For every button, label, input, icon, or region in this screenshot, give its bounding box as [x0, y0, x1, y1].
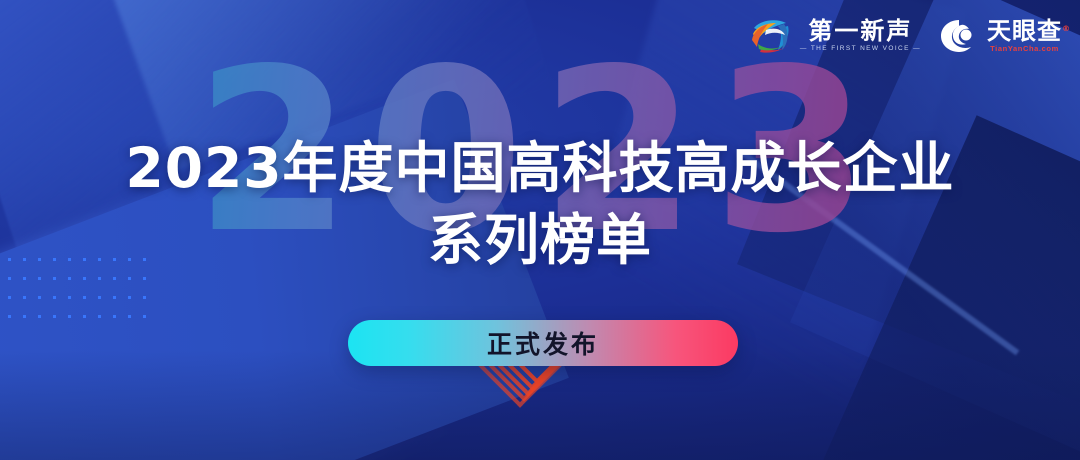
dot-grid-dot: [23, 296, 26, 299]
dot-grid-dot: [53, 296, 56, 299]
promo-banner: 2023 第一新声 — THE FIRST NEW VOICE —: [0, 0, 1080, 460]
dot-grid-dot: [38, 315, 41, 318]
publish-cta-button[interactable]: 正式发布: [348, 320, 738, 366]
dot-grid-dot: [83, 315, 86, 318]
diyi-xinsheng-wordmark: 第一新声 — THE FIRST NEW VOICE —: [800, 18, 921, 54]
dot-grid-dot: [128, 277, 131, 280]
logo-tianyancha[interactable]: 天眼查 ® TianYanCha.com: [939, 17, 1062, 55]
logo-row: 第一新声 — THE FIRST NEW VOICE — 天眼查 ® TianY…: [750, 10, 1062, 62]
tianyancha-cn-name: 天眼查 ®: [987, 18, 1062, 44]
tianyancha-cn-text: 天眼查: [987, 17, 1062, 45]
tianyancha-wordmark: 天眼查 ® TianYanCha.com: [987, 18, 1062, 54]
diyi-xinsheng-cn-name: 第一新声: [808, 18, 912, 44]
dot-grid-dot: [128, 296, 131, 299]
dot-grid-dot: [23, 277, 26, 280]
dot-grid-dot: [98, 277, 101, 280]
dot-grid-dot: [38, 296, 41, 299]
headline-line-1: 2023年度中国高科技高成长企业: [0, 132, 1080, 204]
publish-cta-label: 正式发布: [487, 325, 599, 361]
diyi-xinsheng-tagline: — THE FIRST NEW VOICE —: [800, 44, 921, 54]
tianyancha-domain: TianYanCha.com: [990, 44, 1059, 54]
dot-grid-dot: [83, 277, 86, 280]
dot-grid-dot: [143, 277, 146, 280]
dot-grid-dot: [68, 296, 71, 299]
registered-trademark-icon: ®: [1062, 16, 1071, 42]
dot-grid-dot: [8, 296, 11, 299]
dot-grid-dot: [23, 315, 26, 318]
dot-grid-dot: [68, 277, 71, 280]
dot-grid-dot: [53, 315, 56, 318]
dot-grid-dot: [143, 315, 146, 318]
dot-grid-dot: [98, 296, 101, 299]
dot-grid-dot: [8, 315, 11, 318]
dot-grid-dot: [98, 315, 101, 318]
diyixinsheng-swirl-logo-icon: [750, 16, 792, 56]
headline: 2023年度中国高科技高成长企业 系列榜单: [0, 132, 1080, 276]
dot-grid-dot: [38, 277, 41, 280]
dot-grid-dot: [128, 315, 131, 318]
logo-diyi-xinsheng[interactable]: 第一新声 — THE FIRST NEW VOICE —: [750, 16, 921, 56]
dot-grid-dot: [143, 296, 146, 299]
headline-line-2: 系列榜单: [0, 204, 1080, 276]
dot-grid-dot: [113, 277, 116, 280]
dot-grid-dot: [53, 277, 56, 280]
dot-grid-dot: [8, 277, 11, 280]
dot-grid-dot: [113, 296, 116, 299]
dot-grid-dot: [113, 315, 116, 318]
dot-grid-dot: [83, 296, 86, 299]
dot-grid-dot: [68, 315, 71, 318]
tianyancha-eye-logo-icon: [939, 17, 979, 55]
